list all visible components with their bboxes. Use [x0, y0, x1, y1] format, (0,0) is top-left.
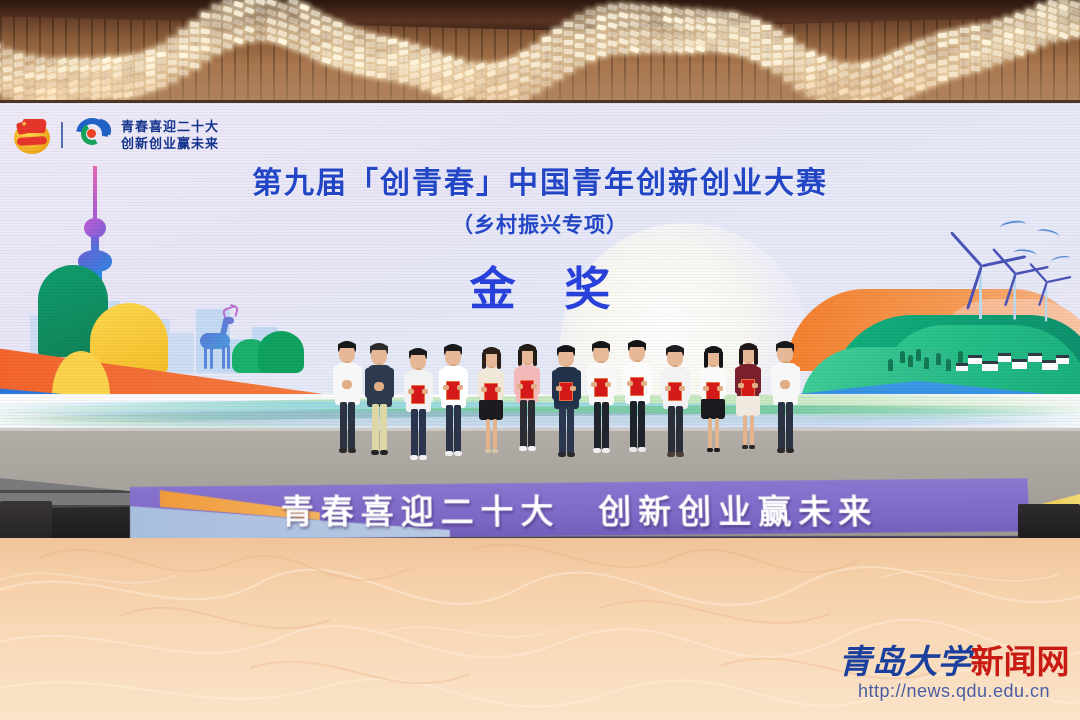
logo-divider [61, 122, 63, 148]
award-certificate [630, 377, 644, 396]
watermark-url: http://news.qdu.edu.cn [836, 680, 1072, 702]
watermark-site-name: 青岛大学新闻网 [836, 644, 1072, 680]
logo-band: ★ 青春喜迎二十大 创新创业赢未来 [12, 115, 219, 155]
watermark: 青岛大学新闻网 http://news.qdu.edu.cn [836, 644, 1072, 710]
logo-slogan: 青春喜迎二十大 创新创业赢未来 [121, 119, 219, 151]
event-title: 第九届「创青春」中国青年创新创业大赛 [0, 158, 1080, 202]
person [584, 341, 618, 461]
person [549, 345, 583, 465]
award-label: 金 奖 [0, 253, 1080, 319]
person [620, 340, 654, 460]
person [696, 346, 730, 466]
award-certificate [411, 385, 425, 404]
person [510, 344, 544, 464]
person [401, 348, 435, 468]
chuangqingchun-swirl-logo-icon [72, 116, 112, 154]
watermark-site-name-blue: 青岛大学 [839, 642, 971, 681]
person [330, 341, 364, 461]
watermark-site-name-red: 新闻网 [971, 643, 1070, 680]
communist-youth-league-emblem-icon: ★ [12, 115, 52, 155]
person [768, 341, 802, 461]
ceiling [0, 0, 1080, 104]
event-subtitle: （乡村振兴专项） [0, 209, 1080, 239]
banner-text-right: 创新创业赢未来 [598, 485, 879, 533]
award-certificate [594, 378, 608, 397]
person [731, 343, 765, 463]
person [436, 344, 470, 464]
banner-text-left: 青春喜迎二十大 [281, 485, 561, 533]
stage-front-banner: 青春喜迎二十大 创新创业赢未来 [130, 478, 1030, 540]
logo-slogan-line1: 青春喜迎二十大 [121, 119, 219, 134]
bush-2 [258, 331, 304, 373]
award-certificate [446, 381, 460, 400]
person [658, 345, 692, 465]
logo-slogan-line2: 创新创业赢未来 [121, 136, 219, 151]
photo-scene: ★ 青春喜迎二十大 创新创业赢未来 [0, 0, 1080, 720]
banner-text: 青春喜迎二十大 创新创业赢未来 [130, 478, 1030, 540]
award-certificate [520, 380, 534, 399]
award-certificate [559, 382, 573, 401]
person [362, 343, 396, 463]
ceiling-glow [0, 62, 1080, 104]
award-certificate [668, 382, 682, 401]
person [474, 347, 508, 467]
